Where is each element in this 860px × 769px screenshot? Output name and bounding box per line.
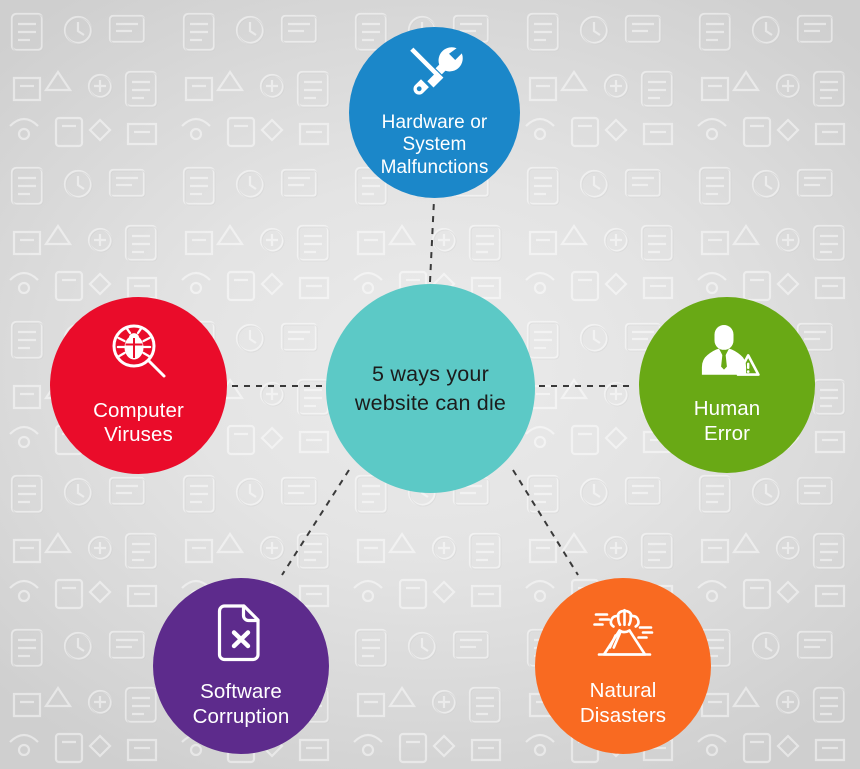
volcano-icon <box>590 604 656 668</box>
node-natural-label: Natural Disasters <box>580 679 666 728</box>
node-hardware-malfunctions[interactable]: Hardware or System Malfunctions <box>349 27 520 198</box>
connector-center-to-natural <box>513 470 578 575</box>
node-software-corruption[interactable]: Software Corruption <box>153 578 329 754</box>
connector-center-to-software <box>282 470 349 575</box>
node-human-label: Human Error <box>694 397 761 446</box>
node-natural-disasters[interactable]: Natural Disasters <box>535 578 711 754</box>
wrench-screwdriver-icon <box>406 45 464 103</box>
center-hub-label: 5 ways your website can die <box>355 360 506 417</box>
node-human-error[interactable]: Human Error <box>639 297 815 473</box>
node-hardware-label: Hardware or System Malfunctions <box>381 112 489 180</box>
file-x-icon <box>216 603 266 669</box>
node-software-label: Software Corruption <box>193 680 290 729</box>
magnifier-bug-icon <box>109 323 169 387</box>
node-computer-viruses[interactable]: Computer Viruses <box>50 297 227 474</box>
center-hub[interactable]: 5 ways your website can die <box>326 284 535 493</box>
node-viruses-label: Computer Viruses <box>93 399 184 448</box>
connector-center-to-hardware <box>430 200 434 282</box>
infographic-canvas: 5 ways your website can die Hardware or … <box>0 0 860 769</box>
person-warning-icon <box>694 324 760 386</box>
